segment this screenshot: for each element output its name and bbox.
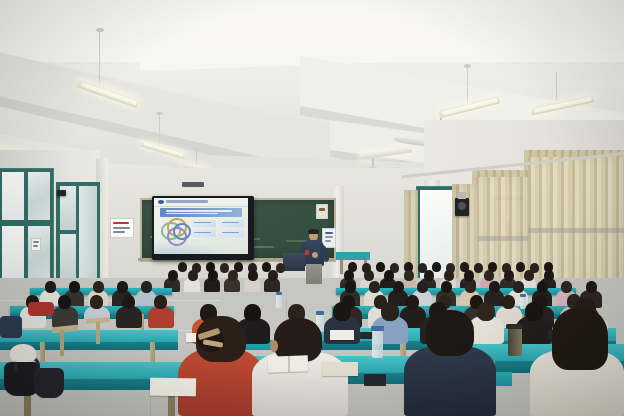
student-head	[406, 295, 419, 309]
speaker-cone	[458, 202, 466, 210]
student-head	[168, 270, 178, 281]
student-head	[465, 281, 476, 293]
front-wall-poster	[316, 204, 328, 219]
slide-card-3	[192, 230, 216, 237]
student-head	[333, 302, 351, 321]
student-head	[516, 262, 525, 272]
student-head	[513, 281, 524, 293]
bottle-cap	[520, 294, 526, 297]
student-head	[208, 270, 218, 281]
student-head	[524, 270, 534, 281]
student-head	[244, 304, 261, 322]
student-head	[477, 302, 495, 321]
slide-card-4	[220, 230, 244, 237]
slide-header-title	[166, 200, 207, 203]
white-helmet	[10, 344, 36, 362]
slide-background-wave	[154, 239, 248, 254]
light-cord-6	[467, 67, 468, 105]
light-cord-7	[556, 72, 557, 102]
student-head	[58, 295, 71, 309]
presenter-hand	[312, 252, 318, 258]
open-notebook	[150, 378, 196, 397]
water-bottle	[372, 330, 383, 358]
speaker-bracket	[458, 192, 466, 199]
projection-slide	[154, 198, 248, 254]
slide-ring-4	[173, 223, 191, 240]
student-head	[444, 270, 454, 281]
side-table	[336, 252, 370, 260]
notebook-spine	[288, 356, 290, 372]
student-head	[117, 281, 128, 293]
student-head	[484, 270, 494, 281]
student-head	[586, 281, 597, 293]
presenter-hair	[308, 229, 319, 234]
presenter-badge	[305, 250, 309, 255]
student-head	[90, 295, 103, 309]
student-head	[404, 270, 414, 281]
light-mount-1	[96, 28, 104, 32]
student-head	[464, 270, 474, 281]
handbag-floor	[34, 368, 64, 398]
classroom-door-panel	[79, 186, 97, 284]
side-table-leg	[340, 260, 343, 274]
student-head	[393, 281, 404, 293]
desk-leg	[150, 342, 155, 364]
student-body	[148, 306, 174, 328]
student-head	[525, 302, 543, 321]
presenter-legs	[306, 264, 322, 284]
bottle-cap	[316, 311, 324, 315]
classroom-photograph	[0, 0, 624, 416]
student-head	[504, 270, 514, 281]
classroom-door-glass-lower	[60, 234, 76, 284]
left-window-1-glass-top2	[28, 172, 50, 220]
foreground-man-white-ear	[270, 340, 278, 352]
speaker-icon-left	[57, 190, 66, 196]
desk-leg	[40, 342, 45, 364]
student-head	[561, 281, 572, 293]
student-head	[489, 281, 500, 293]
light-cord-2	[159, 114, 160, 148]
red-bag-upper	[28, 302, 54, 316]
chair-leg	[96, 322, 100, 344]
student-head	[276, 263, 285, 273]
foreground-man-navy-body	[404, 346, 496, 416]
student-head	[424, 270, 434, 281]
student-head	[381, 302, 399, 321]
bottle-cap	[371, 326, 384, 331]
student-head	[344, 270, 354, 281]
water-bottle	[276, 294, 282, 308]
student-head	[432, 262, 441, 272]
student-head	[45, 281, 56, 293]
foreground-woman-right-hair	[552, 308, 608, 370]
student-head	[345, 281, 356, 293]
student-head	[220, 263, 229, 273]
bottle-cap	[276, 292, 282, 295]
student-head	[474, 263, 483, 273]
student-head	[417, 281, 428, 293]
projector-mount	[182, 182, 204, 187]
student-head	[441, 281, 452, 293]
student-head	[376, 262, 385, 272]
student-head	[369, 281, 380, 293]
student-head	[537, 281, 548, 293]
lectern	[283, 253, 305, 271]
slide-logo-icon	[158, 200, 165, 204]
student-head	[93, 281, 104, 293]
student-head	[502, 295, 515, 309]
slide-card-2	[220, 220, 244, 227]
student-head	[268, 270, 278, 281]
foreground-man-navy-head	[426, 310, 474, 356]
blue-bag-left	[0, 316, 22, 338]
left-window-1-glass-top	[2, 172, 24, 220]
student-head	[178, 262, 187, 272]
slide-card-1	[192, 220, 216, 227]
notebook-closed	[322, 362, 358, 376]
student-head	[188, 270, 198, 281]
student-head	[122, 295, 135, 309]
light-cord-1	[99, 31, 100, 91]
student-head	[69, 281, 80, 293]
student-head	[154, 295, 167, 309]
smartphone	[364, 374, 386, 386]
student-body	[116, 306, 142, 328]
front-wall-notice-board	[110, 218, 134, 238]
student-head	[248, 270, 258, 281]
notebook	[330, 330, 354, 340]
student-head	[364, 270, 374, 281]
wall-sign-left	[31, 238, 41, 251]
tumbler-right-lid	[506, 324, 523, 329]
student-head	[228, 270, 238, 281]
curtain-header-2	[472, 170, 528, 177]
speaker-icon-right	[455, 198, 469, 216]
curtain-tieband-2	[472, 236, 528, 241]
tumbler-right	[508, 328, 522, 356]
projection-screen-frame	[152, 196, 254, 260]
chair-leg	[60, 330, 64, 356]
student-head	[384, 270, 394, 281]
left-window-1-glass-bot	[2, 226, 24, 282]
student-head	[544, 270, 554, 281]
slide-title-band	[160, 208, 243, 217]
left-window-1-glass-bot2	[28, 226, 50, 282]
student-head	[141, 281, 152, 293]
curtain-tieband-1	[524, 228, 624, 233]
